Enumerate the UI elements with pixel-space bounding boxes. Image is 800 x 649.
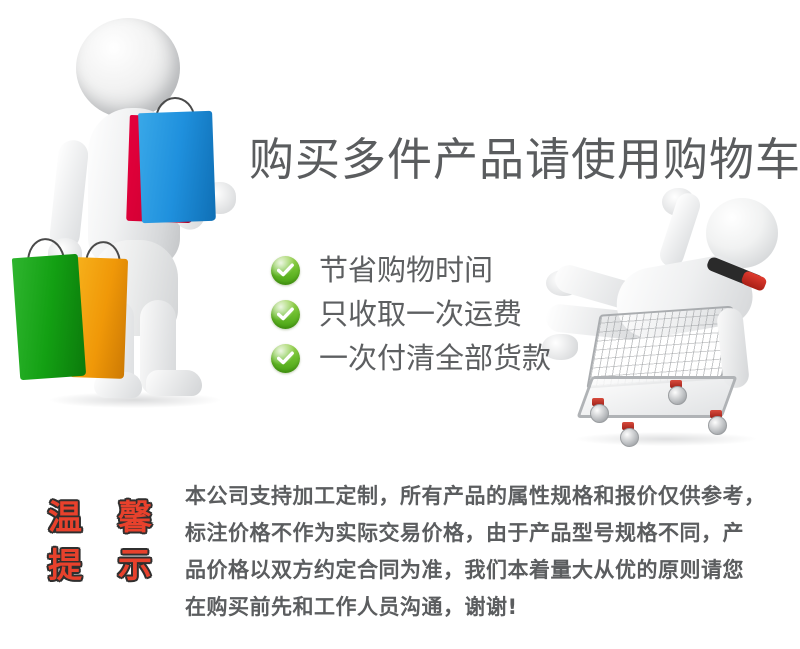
cart-rider-illustration — [520, 190, 800, 450]
cart-wheel — [668, 386, 687, 405]
benefit-item: 一次付清全部货款 — [271, 336, 551, 380]
notice-line: 品价格以双方约定合同为准，我们本着量大从优的原则请您 — [185, 552, 760, 589]
shopper-left-arm — [48, 139, 89, 252]
notice-badge: 温 馨 提 示 — [48, 494, 164, 590]
bag-body — [12, 254, 86, 380]
green-check-circle-icon — [271, 256, 300, 285]
benefit-label: 节省购物时间 — [319, 253, 493, 287]
bag-body — [138, 111, 216, 224]
benefit-label: 一次付清全部货款 — [319, 341, 551, 375]
benefit-item: 节省购物时间 — [271, 248, 551, 292]
cart-wheel — [590, 404, 609, 423]
notice-badge-line-2: 提 示 — [48, 542, 164, 590]
shopping-bag-blue — [138, 111, 216, 224]
benefit-label: 只收取一次运费 — [319, 297, 522, 331]
shopper-illustration — [0, 0, 252, 425]
benefit-list: 节省购物时间 只收取一次运费 一次付清全部货款 — [271, 248, 551, 380]
green-check-circle-icon — [271, 300, 300, 329]
notice-line: 本公司支持加工定制，所有产品的属性规格和报价仅供参考， — [185, 478, 760, 515]
benefit-item: 只收取一次运费 — [271, 292, 551, 336]
notice-paragraph: 本公司支持加工定制，所有产品的属性规格和报价仅供参考， 标注价格不作为实际交易价… — [185, 478, 760, 626]
notice-line: 在购买前先和工作人员沟通，谢谢! — [185, 589, 760, 626]
shopper-right-foot — [146, 370, 202, 396]
green-check-circle-icon — [271, 344, 300, 373]
promo-banner: 购买多件产品请使用购物车 节省购物时间 只收取一次运费 — [0, 0, 800, 649]
notice-line: 标注价格不作为实际交易价格，由于产品型号规格不同，产 — [185, 515, 760, 552]
cart-ground-shadow — [576, 432, 756, 446]
headline-text: 购买多件产品请使用购物车 — [249, 134, 800, 186]
notice-badge-line-1: 温 馨 — [48, 494, 164, 542]
shopping-bag-green — [12, 254, 86, 380]
cart-wheel — [708, 416, 727, 435]
cart-wheel — [620, 428, 639, 447]
